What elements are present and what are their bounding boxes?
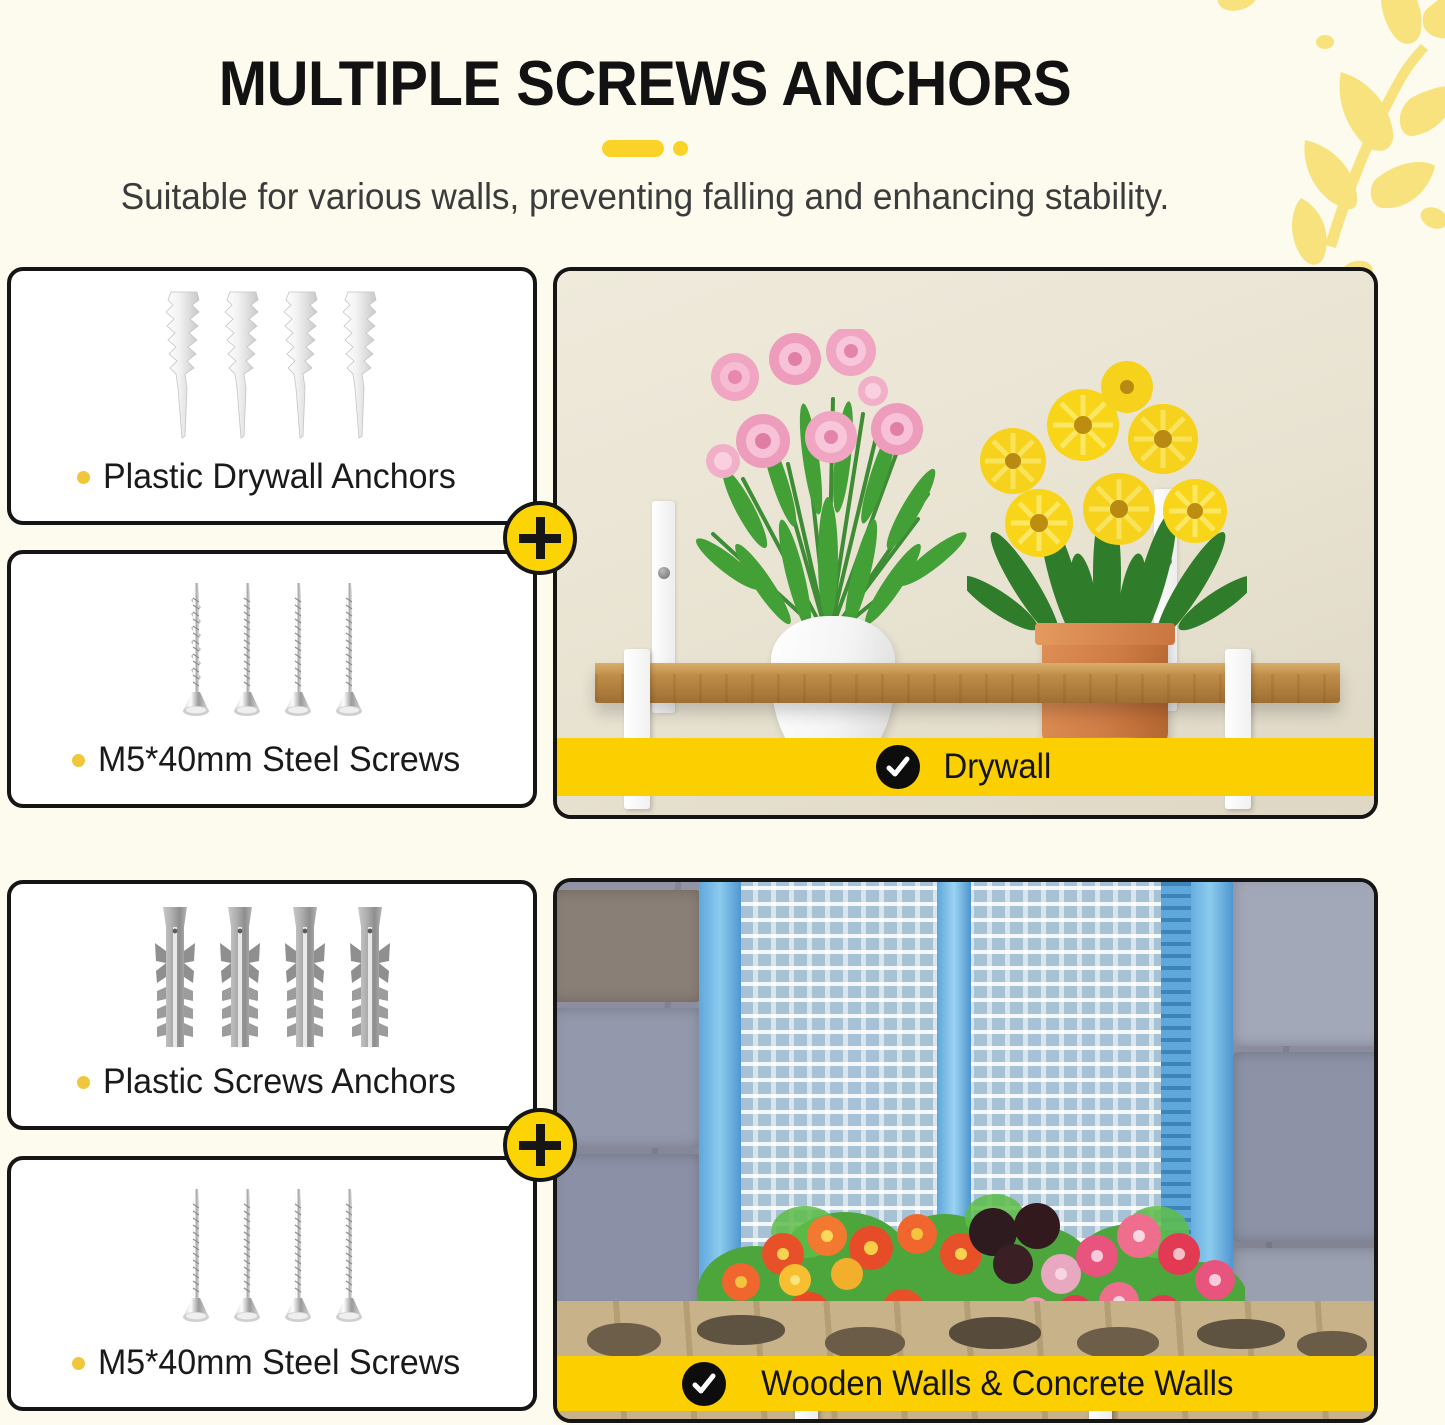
wood-concrete-group: Plastic Screws Anchors bbox=[0, 868, 1445, 1425]
plastic-expansion-plug-icon bbox=[348, 905, 392, 1053]
plastic-expansion-plug-icon bbox=[218, 905, 262, 1053]
drywall-shelf-scene: Drywall bbox=[557, 271, 1374, 815]
steel-screw-icon bbox=[181, 1186, 211, 1329]
steel-screw-icon-row bbox=[11, 568, 533, 723]
bullet-dot-icon bbox=[72, 754, 85, 767]
plastic-drywall-anchor-icon bbox=[342, 288, 380, 440]
steel-screw-icon bbox=[334, 580, 364, 723]
steel-screw-icon bbox=[283, 1186, 313, 1329]
steel-screw-icon bbox=[232, 1186, 262, 1329]
infographic-root: MULTIPLE SCREWS ANCHORS Suitable for var… bbox=[0, 0, 1445, 1425]
steel-screw-icon bbox=[334, 1186, 364, 1329]
part-label-text: Plastic Screws Anchors bbox=[103, 1062, 456, 1102]
wall-type-text: Drywall bbox=[944, 747, 1052, 787]
steel-screw-icon-row bbox=[11, 1174, 533, 1329]
bullet-dot-icon bbox=[77, 1076, 90, 1089]
part-label: Plastic Screws Anchors bbox=[11, 1062, 533, 1102]
plastic-drywall-anchor-icon bbox=[283, 288, 321, 440]
part-card-steel-screws: M5*40mm Steel Screws bbox=[7, 550, 537, 808]
plastic-expansion-plug-icon bbox=[153, 905, 197, 1053]
part-label: Plastic Drywall Anchors bbox=[11, 457, 533, 497]
part-label: M5*40mm Steel Screws bbox=[11, 740, 533, 780]
plastic-expansion-plug-icon-row bbox=[11, 898, 533, 1053]
photo-panel-drywall: Drywall bbox=[553, 267, 1378, 819]
check-circle-icon bbox=[682, 1362, 726, 1406]
part-label-text: M5*40mm Steel Screws bbox=[98, 740, 460, 780]
wall-type-text: Wooden Walls & Concrete Walls bbox=[761, 1364, 1233, 1404]
drywall-group: Plastic Drywall Anchors bbox=[0, 265, 1445, 825]
wall-type-badge: Wooden Walls & Concrete Walls bbox=[557, 1356, 1374, 1411]
plus-badge-icon bbox=[503, 501, 577, 575]
plastic-drywall-anchor-icon bbox=[165, 288, 203, 440]
part-card-plastic-drywall-anchors: Plastic Drywall Anchors bbox=[7, 267, 537, 525]
steel-screw-icon bbox=[232, 580, 262, 723]
title-divider bbox=[0, 137, 1290, 159]
pink-flower-plant bbox=[683, 329, 973, 649]
plastic-expansion-plug-icon bbox=[283, 905, 327, 1053]
bullet-dot-icon bbox=[72, 1357, 85, 1370]
photo-panel-wood-concrete: Wooden Walls & Concrete Walls bbox=[553, 878, 1378, 1423]
plus-badge-icon bbox=[503, 1108, 577, 1182]
plastic-drywall-anchor-icon-row bbox=[11, 285, 533, 440]
steel-screw-icon bbox=[283, 580, 313, 723]
part-label-text: Plastic Drywall Anchors bbox=[103, 457, 456, 497]
part-label: M5*40mm Steel Screws bbox=[11, 1343, 533, 1383]
plastic-drywall-anchor-icon bbox=[224, 288, 262, 440]
divider-dot bbox=[673, 141, 688, 156]
divider-pill bbox=[602, 140, 664, 157]
part-card-steel-screws: M5*40mm Steel Screws bbox=[7, 1156, 537, 1411]
page-title: MULTIPLE SCREWS ANCHORS bbox=[52, 48, 1239, 120]
part-label-text: M5*40mm Steel Screws bbox=[98, 1343, 460, 1383]
part-card-plastic-screws-anchors: Plastic Screws Anchors bbox=[7, 880, 537, 1130]
stone-wall-window-box-scene: Wooden Walls & Concrete Walls bbox=[557, 882, 1374, 1419]
check-circle-icon bbox=[876, 745, 920, 789]
bullet-dot-icon bbox=[77, 471, 90, 484]
yellow-flower-plant bbox=[967, 359, 1247, 655]
wall-type-badge: Drywall bbox=[557, 738, 1374, 796]
steel-screw-icon bbox=[181, 580, 211, 723]
page-subtitle: Suitable for various walls, preventing f… bbox=[32, 176, 1258, 218]
